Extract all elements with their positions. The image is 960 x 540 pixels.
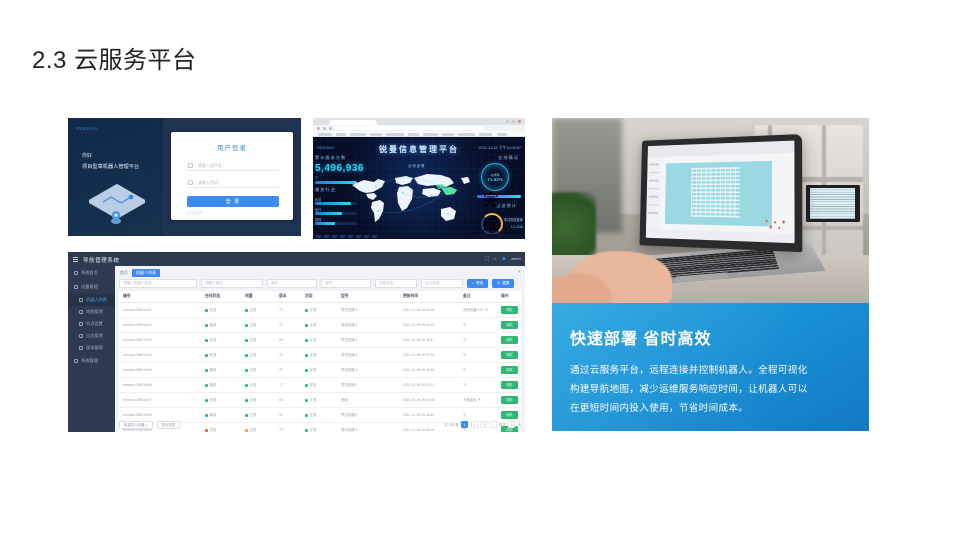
edit-icon[interactable]: ✎ (463, 367, 466, 372)
minimize-icon[interactable] (506, 120, 509, 123)
cell-model: 导览机器人 (337, 332, 399, 347)
bookmark-item[interactable] (479, 133, 492, 136)
detail-button[interactable]: 详情 (501, 366, 518, 374)
photo-screen-toolbar (648, 140, 795, 157)
edit-icon[interactable]: ✎ (477, 397, 481, 402)
cell-online-label: 在线 (210, 338, 217, 342)
cell-status-label: 正常 (310, 398, 317, 402)
bookmark-item[interactable] (370, 133, 382, 136)
refresh-icon: ↻ (497, 281, 500, 285)
cell-id: reeman-00801m06 (119, 377, 201, 392)
status-dot (305, 399, 308, 402)
sidebar-item-system[interactable]: 系统管理 (68, 354, 115, 368)
node-icon (79, 322, 83, 326)
cell-id: reeman-00801m02 (119, 317, 201, 332)
cell-version: 70 (275, 362, 301, 377)
cell-note: ✎ (459, 332, 497, 347)
cell-online: 离线 (201, 317, 241, 332)
bookmark-item[interactable] (386, 133, 404, 136)
bookmark-item[interactable] (458, 133, 475, 136)
table-row[interactable]: reeman-00801m06 离线 正常 71 在线 导览机器人 2021-1… (119, 377, 521, 392)
cell-battery: 正常 (241, 303, 275, 318)
cell-status-label: 正常 (310, 338, 317, 342)
cell-note: ✎ (459, 362, 497, 377)
cell-model: 消毒机器人 (337, 317, 399, 332)
col-version: 版本 (275, 291, 301, 303)
cell-online-label: 在线 (210, 308, 217, 312)
cell-battery-label: 正常 (250, 398, 257, 402)
filter-toolbar: 请输入机器人名称 请输入编号 版本 型号 在线状态 运行状态 ⌕搜索 ↻重置 (119, 278, 521, 288)
username-field[interactable]: 请输入用户名 (187, 160, 279, 171)
cell-battery: 正常 (241, 377, 275, 392)
bookmark-item[interactable] (350, 133, 366, 136)
breadcrumb-item[interactable]: 首页 (120, 270, 128, 276)
page-title: 2.3 云服务平台 (32, 40, 197, 75)
cell-online: 在线 (201, 392, 241, 407)
cell-online: 在线 (201, 332, 241, 347)
photo-map-canvas (665, 160, 772, 225)
cell-status: 正常 (301, 347, 337, 362)
cell-updated: 2021-11-16 09:30:08 (399, 392, 459, 407)
cell-status: 正常 (301, 332, 337, 347)
topbar-actions: ⛶ ⌂ ☻ admin (486, 256, 521, 261)
reload-icon[interactable] (329, 127, 332, 130)
dashboard-datetime: 2021-11-16 下午12:06:07 (478, 146, 521, 151)
back-icon[interactable] (317, 127, 320, 130)
cell-battery-label: 正常 (250, 413, 257, 417)
password-placeholder: 请输入密码 (198, 180, 218, 186)
cell-version: 69 (275, 332, 301, 347)
cell-online: 离线 (201, 377, 241, 392)
col-battery: 电量 (241, 291, 275, 303)
col-updated: 更新时间 (399, 291, 459, 303)
table-footer: 批量导入机器人 导出列表 共 128 条 1 2 3 › 前往 1 页 (119, 420, 521, 429)
version-icon (79, 346, 83, 350)
sidebar-item-label: 机器人列表 (86, 297, 107, 303)
detail-button[interactable]: 详情 (501, 306, 518, 314)
edit-icon[interactable]: ✎ (463, 382, 466, 387)
tab-close-icon[interactable]: ✕ (518, 269, 521, 274)
cell-version: 69 (275, 392, 301, 407)
cell-version: 71 (275, 377, 301, 392)
status-dot (305, 384, 308, 387)
cell-online-label: 离线 (210, 323, 217, 327)
bookmark-item[interactable] (497, 133, 507, 136)
gauge-label: 完成率 (483, 186, 501, 240)
sidebar-item-label: 版本管理 (86, 345, 103, 351)
robot-table: 编号 在线状态 电量 版本 状态 型号 更新时间 备注 操作 reeman-00… (119, 291, 521, 432)
section-label-industry: 服务行业 (315, 187, 336, 193)
pagination-page[interactable]: 3 (480, 421, 487, 428)
bookmark-item[interactable] (408, 133, 419, 136)
close-icon[interactable] (518, 120, 521, 123)
status-dot (305, 324, 308, 327)
status-dot (245, 309, 248, 312)
cell-battery: 正常 (241, 392, 275, 407)
slide-root: 2.3 云服务平台 REEMAN 你好 项目型章机器人管理平台 (0, 0, 960, 540)
isometric-illustration (85, 180, 149, 228)
sidebar-item-versions[interactable]: 版本管理 (68, 342, 115, 354)
photo-map-pointcloud (691, 166, 740, 217)
cell-status: 正常 (301, 362, 337, 377)
sidebar-item-label: 设备管理 (81, 284, 98, 290)
table-header: 编号 在线状态 电量 版本 状态 型号 更新时间 备注 操作 (119, 291, 521, 303)
detail-button[interactable]: 详情 (501, 336, 518, 344)
url-text[interactable] (335, 126, 485, 130)
photo-laptop-cloud-mapping (552, 118, 869, 303)
cell-action: 详情 (497, 377, 521, 392)
edit-icon[interactable]: ✎ (463, 412, 466, 417)
cell-action: 详情 (497, 392, 521, 407)
status-dot (245, 399, 248, 402)
cell-id: reeman-00801m05 (119, 362, 201, 377)
stat-label: 累计服务次数 (315, 155, 346, 161)
status-dot (205, 354, 208, 357)
caption-body: 通过云服务平台，远程连接并控制机器人。全程可视化 构建导航地图，减少运维服务响应… (570, 361, 851, 418)
login-submit-button[interactable]: 登 录 (187, 196, 279, 207)
detail-button[interactable]: 详情 (501, 411, 518, 419)
filter-version-input[interactable]: 版本 (267, 279, 317, 288)
cell-status-label: 正常 (310, 353, 317, 357)
map-icon (79, 310, 83, 314)
edit-icon[interactable]: ✎ (463, 337, 466, 342)
sidebar-item-logs[interactable]: 日志管理 (68, 330, 115, 342)
cell-updated: 2021-11-16 09:37:10 (399, 347, 459, 362)
cell-note: ✎ (459, 317, 497, 332)
ring-value: 71.52% (487, 177, 502, 182)
cell-note: 测试机器人01 ✎ (459, 303, 497, 318)
cell-updated: 2021-11-16 09:33:21 (399, 377, 459, 392)
status-dot (305, 414, 308, 417)
table-row[interactable]: reeman-00801m07 在线 正常 69 正常 配送 2021-11-1… (119, 392, 521, 407)
sidebar-item-robot-list[interactable]: 机器人列表 (68, 294, 115, 306)
status-dot (245, 384, 248, 387)
cell-battery-label: 正常 (250, 383, 257, 387)
lock-icon (188, 180, 193, 185)
breadcrumb-item-active[interactable]: 机器人列表 (132, 269, 160, 277)
cell-battery: 正常 (241, 317, 275, 332)
filter-online-select[interactable]: 在线状态 (375, 279, 417, 288)
reset-button-label: 重置 (502, 281, 509, 286)
export-button[interactable]: 导出列表 (157, 421, 181, 429)
status-dot (205, 309, 208, 312)
cell-online: 在线 (201, 347, 241, 362)
status-dot (245, 414, 248, 417)
sidebar-item-label: 地图管理 (86, 309, 103, 315)
cell-note: ✎ (459, 377, 497, 392)
sidebar-item-devices[interactable]: 设备管理 (68, 280, 115, 294)
pagination-page[interactable]: 1 (461, 421, 468, 428)
cell-id: reeman-00801m04 (119, 347, 201, 362)
screenshot-nav-management: 导航管理系统 ⛶ ⌂ ☻ admin 系统首页 设备管理 机器人列表 地图管理 … (68, 252, 525, 432)
status-dot (205, 339, 208, 342)
password-field[interactable]: 请输入密码 (187, 177, 279, 188)
dashboard-canvas: REEMAN 锐曼信息管理平台 2021-11-16 下午12:06:07 累计… (313, 137, 525, 239)
pagination-next[interactable]: › (490, 421, 497, 428)
delivery-side-value: 12,438 (511, 224, 523, 229)
login-greeting: 你好 (82, 152, 92, 159)
username-placeholder: 请输入用户名 (198, 163, 222, 169)
cell-status: 正常 (301, 303, 337, 318)
cell-id: reeman-00801m07 (119, 392, 201, 407)
cell-action: 详情 (497, 362, 521, 377)
cell-battery: 正常 (241, 332, 275, 347)
cell-note-label: 大堂接待 (463, 398, 477, 402)
pagination-goto-input[interactable]: 1 (508, 421, 515, 428)
pagination-goto-label: 前往 (499, 422, 506, 427)
table-body: reeman-00801m01 在线 正常 71 正常 导览机器人 2021-1… (119, 303, 521, 433)
filter-name-input[interactable]: 请输入机器人名称 (119, 279, 197, 288)
login-card-title: 用户登录 (171, 142, 293, 152)
sidebar-item-home[interactable]: 系统首页 (68, 266, 115, 280)
col-action: 操作 (497, 291, 521, 303)
cell-id: reeman-00801m01 (119, 303, 201, 318)
status-dot (205, 414, 208, 417)
cell-online-label: 在线 (210, 353, 217, 357)
col-status: 状态 (301, 291, 337, 303)
photo-laptop-screen (646, 140, 795, 243)
bookmark-item[interactable] (423, 133, 438, 136)
app-sidebar: 系统首页 设备管理 机器人列表 地图管理 节点设置 日志管理 版本管理 系统管理 (68, 266, 115, 432)
status-dot (205, 429, 208, 432)
screenshot-data-dashboard: REEMAN 锐曼信息管理平台 2021-11-16 下午12:06:07 累计… (313, 118, 525, 239)
cell-status: 在线 (301, 377, 337, 392)
cell-battery-label: 正常 (250, 338, 257, 342)
cell-online-label: 在线 (210, 398, 217, 402)
edit-icon[interactable]: ✎ (463, 322, 466, 327)
cell-battery: 正常 (241, 347, 275, 362)
status-dot (245, 429, 248, 432)
cell-status: 正常 (301, 317, 337, 332)
user-name[interactable]: admin (511, 257, 521, 261)
gear-icon (74, 359, 78, 363)
col-online: 在线状态 (201, 291, 241, 303)
cell-status-label: 正常 (310, 368, 317, 372)
cell-model: 配送 (337, 392, 399, 407)
device-icon (74, 285, 78, 289)
world-map (343, 163, 473, 227)
photo-laptop-lid (640, 134, 803, 252)
bookmark-item[interactable] (442, 133, 454, 136)
cell-status-label: 正常 (310, 308, 317, 312)
forgot-password-link[interactable]: 忘记密码？ (187, 211, 205, 216)
cell-updated: 2021-11-16 09:40:22 (399, 317, 459, 332)
photo-screen-markers (766, 219, 785, 230)
cell-status-label: 正常 (310, 323, 317, 327)
cell-online-label: 离线 (210, 383, 217, 387)
detail-button[interactable]: 详情 (501, 396, 518, 404)
cell-note-label: 测试机器人01 (463, 308, 484, 312)
login-hero-panel: REEMAN 你好 项目型章机器人管理平台 (68, 118, 163, 236)
edit-icon[interactable]: ✎ (463, 352, 466, 357)
status-dot (205, 369, 208, 372)
search-button-label: 搜索 (476, 281, 483, 286)
sidebar-item-maps[interactable]: 地图管理 (68, 306, 115, 318)
table-row[interactable]: reeman-00801m03 在线 正常 69 正常 导览机器人 2021-1… (119, 332, 521, 347)
sidebar-item-label: 节点设置 (86, 321, 103, 327)
pagination-total: 共 128 条 (445, 422, 459, 427)
status-dot (305, 309, 308, 312)
status-dot (245, 369, 248, 372)
cell-version: 71 (275, 303, 301, 318)
robot-icon (79, 298, 83, 302)
cell-battery-label: 正常 (250, 353, 257, 357)
photo-tablet-screen (806, 185, 860, 222)
breadcrumb: 首页 机器人列表 (120, 269, 160, 277)
status-dot (205, 384, 208, 387)
caption-line: 在更短时间内投入使用，节省时间成本。 (570, 399, 851, 418)
delivery-gauge: 完成率 88% (481, 213, 503, 235)
user-icon[interactable]: ☻ (501, 256, 506, 261)
app-topbar: 导航管理系统 ⛶ ⌂ ☻ admin (68, 252, 525, 266)
pagination-page-label: 页 (518, 422, 521, 427)
cell-note: 大堂接待 ✎ (459, 392, 497, 407)
filter-status-select[interactable]: 运行状态 (421, 279, 463, 288)
cell-action: 详情 (497, 332, 521, 347)
app-content: 首页 机器人列表 ✕ 请输入机器人名称 请输入编号 版本 型号 在线状态 运行状… (115, 266, 525, 432)
login-form-panel: 用户登录 请输入用户名 请输入密码 登 录 忘记密码？ (163, 118, 301, 236)
bookmark-item[interactable] (318, 133, 332, 136)
search-icon: ⌕ (472, 281, 474, 285)
sidebar-item-label: 系统首页 (81, 270, 98, 276)
login-brand-logo: REEMAN (76, 126, 97, 131)
status-dot (305, 429, 308, 432)
cell-version: 71 (275, 347, 301, 362)
cell-battery-label: 正常 (250, 308, 257, 312)
cell-note: ✎ (459, 347, 497, 362)
status-dot (305, 354, 308, 357)
cell-updated: 2021-11-16 09:35:55 (399, 362, 459, 377)
caption-line: 构建导航地图，减少运维服务响应时间，让机器人可以 (570, 380, 851, 399)
cell-model: 导览机器人 (337, 347, 399, 362)
cell-model: 导览机器人 (337, 377, 399, 392)
status-dot (245, 339, 248, 342)
photo-screen-sidebar (646, 157, 663, 238)
stat-unit: 次 (315, 175, 318, 180)
table-row[interactable]: reeman-00801m01 在线 正常 71 正常 导览机器人 2021-1… (119, 303, 521, 318)
browser-tab-strip (313, 118, 525, 125)
cell-battery-label: 正常 (250, 368, 257, 372)
cell-action: 详情 (497, 317, 521, 332)
filter-id-input[interactable]: 请输入编号 (201, 279, 263, 288)
cell-online: 离线 (201, 362, 241, 377)
cell-id: reeman-00801m03 (119, 332, 201, 347)
batch-import-button[interactable]: 批量导入机器人 (119, 421, 153, 429)
pagination-page[interactable]: 2 (471, 421, 478, 428)
detail-button[interactable]: 详情 (501, 321, 518, 329)
menu-toggle-icon[interactable] (73, 257, 78, 261)
cell-action: 详情 (497, 347, 521, 362)
detail-button[interactable]: 详情 (501, 381, 518, 389)
search-button[interactable]: ⌕搜索 (467, 279, 488, 288)
cell-online-label: 离线 (210, 413, 217, 417)
status-dot (305, 369, 308, 372)
cell-updated: 2021-11-16 09:41:02 (399, 303, 459, 318)
cell-online: 在线 (201, 303, 241, 318)
col-note: 备注 (459, 291, 497, 303)
bookmark-item[interactable] (336, 133, 346, 136)
table-row[interactable]: reeman-00801m05 离线 正常 70 正常 导览机器人 2021-1… (119, 362, 521, 377)
cell-online-label: 离线 (210, 368, 217, 372)
photo-scene (552, 118, 869, 303)
status-dot (245, 324, 248, 327)
maximize-icon[interactable] (512, 120, 515, 123)
cell-battery-label: 正常 (250, 323, 257, 327)
filter-model-input[interactable]: 型号 (321, 279, 371, 288)
login-subtitle: 项目型章机器人管理平台 (82, 163, 139, 170)
cell-model: 导览机器人 (337, 362, 399, 377)
forward-icon[interactable] (323, 127, 326, 130)
table-row[interactable]: reeman-00801m02 离线 正常 71 正常 消毒机器人 2021-1… (119, 317, 521, 332)
screenshot-login-page: REEMAN 你好 项目型章机器人管理平台 用户登录 (68, 118, 301, 236)
cell-status-label: 正常 (310, 413, 317, 417)
cell-status-label: 在线 (310, 383, 317, 387)
photo-screen-statusbar (646, 229, 795, 243)
status-dot (205, 399, 208, 402)
log-icon (79, 334, 83, 338)
sidebar-item-label: 系统管理 (81, 358, 98, 364)
table-row[interactable]: reeman-00801m04 在线 正常 71 正常 导览机器人 2021-1… (119, 347, 521, 362)
edit-icon[interactable]: ✎ (484, 307, 488, 312)
cell-version: 71 (275, 317, 301, 332)
status-dot (305, 339, 308, 342)
home-icon (74, 271, 78, 275)
sidebar-item-label: 日志管理 (86, 333, 103, 339)
cell-status: 正常 (301, 392, 337, 407)
cell-updated: 2021-11-16 09:38:47 (399, 332, 459, 347)
dashboard-footer (313, 234, 525, 239)
fullscreen-icon[interactable]: ⛶ (486, 256, 489, 261)
col-model: 型号 (337, 291, 399, 303)
section-label-online: 在线情况 (498, 155, 519, 161)
caption-heading: 快速部署 省时高效 (570, 325, 869, 349)
delivery-side-label: 本月配送数量 (504, 217, 523, 222)
app-title: 导航管理系统 (83, 256, 120, 264)
bell-icon[interactable]: ⌂ (494, 256, 497, 261)
pagination: 共 128 条 1 2 3 › 前往 1 页 (445, 421, 521, 428)
cell-model: 导览机器人 (337, 303, 399, 318)
status-dot (245, 354, 248, 357)
status-dot (205, 324, 208, 327)
user-icon (188, 163, 193, 168)
cell-battery: 正常 (241, 362, 275, 377)
map-label: 全球部署 (408, 163, 426, 168)
login-card: 用户登录 请输入用户名 请输入密码 登 录 忘记密码？ (171, 132, 293, 220)
detail-button[interactable]: 详情 (501, 351, 518, 359)
caption-line: 通过云服务平台，远程连接并控制机器人。全程可视化 (570, 361, 851, 380)
sidebar-item-nodes[interactable]: 节点设置 (68, 318, 115, 330)
col-id: 编号 (119, 291, 201, 303)
cell-action: 详情 (497, 303, 521, 318)
reset-button[interactable]: ↻重置 (492, 279, 514, 288)
caption-panel: 快速部署 省时高效 通过云服务平台，远程连接并控制机器人。全程可视化 构建导航地… (552, 303, 869, 431)
